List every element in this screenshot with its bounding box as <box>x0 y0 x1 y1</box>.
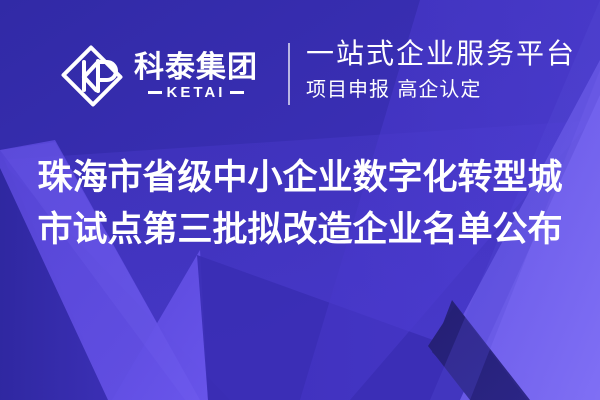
ketai-diamond-kp-monogram-icon <box>60 44 124 108</box>
wordmark-dash-right <box>230 91 244 94</box>
brand-name-cn: 科泰集团 <box>134 52 258 84</box>
brand-name-en: KETAI <box>167 85 226 100</box>
wordmark-dash-left <box>148 91 162 94</box>
brand-logo: 科泰集团 KETAI <box>60 40 258 112</box>
headline-line-1: 珠海市省级中小企业数字化转型城 <box>22 152 578 204</box>
vertical-divider <box>288 43 290 105</box>
brand-wordmark: 科泰集团 KETAI <box>134 52 258 101</box>
slogan-secondary: 项目申报 高企认定 <box>306 77 576 102</box>
promo-banner: 科泰集团 KETAI 一站式企业服务平台 项目申报 高企认定 珠海市省级中小企业… <box>0 0 600 400</box>
headline-block: 珠海市省级中小企业数字化转型城 市试点第三批拟改造企业名单公布 <box>0 152 600 256</box>
headline-line-2: 市试点第三批拟改造企业名单公布 <box>22 204 578 256</box>
slogan-block: 一站式企业服务平台 项目申报 高企认定 <box>306 36 576 102</box>
slogan-primary: 一站式企业服务平台 <box>306 36 576 71</box>
brand-name-en-row: KETAI <box>134 85 258 100</box>
